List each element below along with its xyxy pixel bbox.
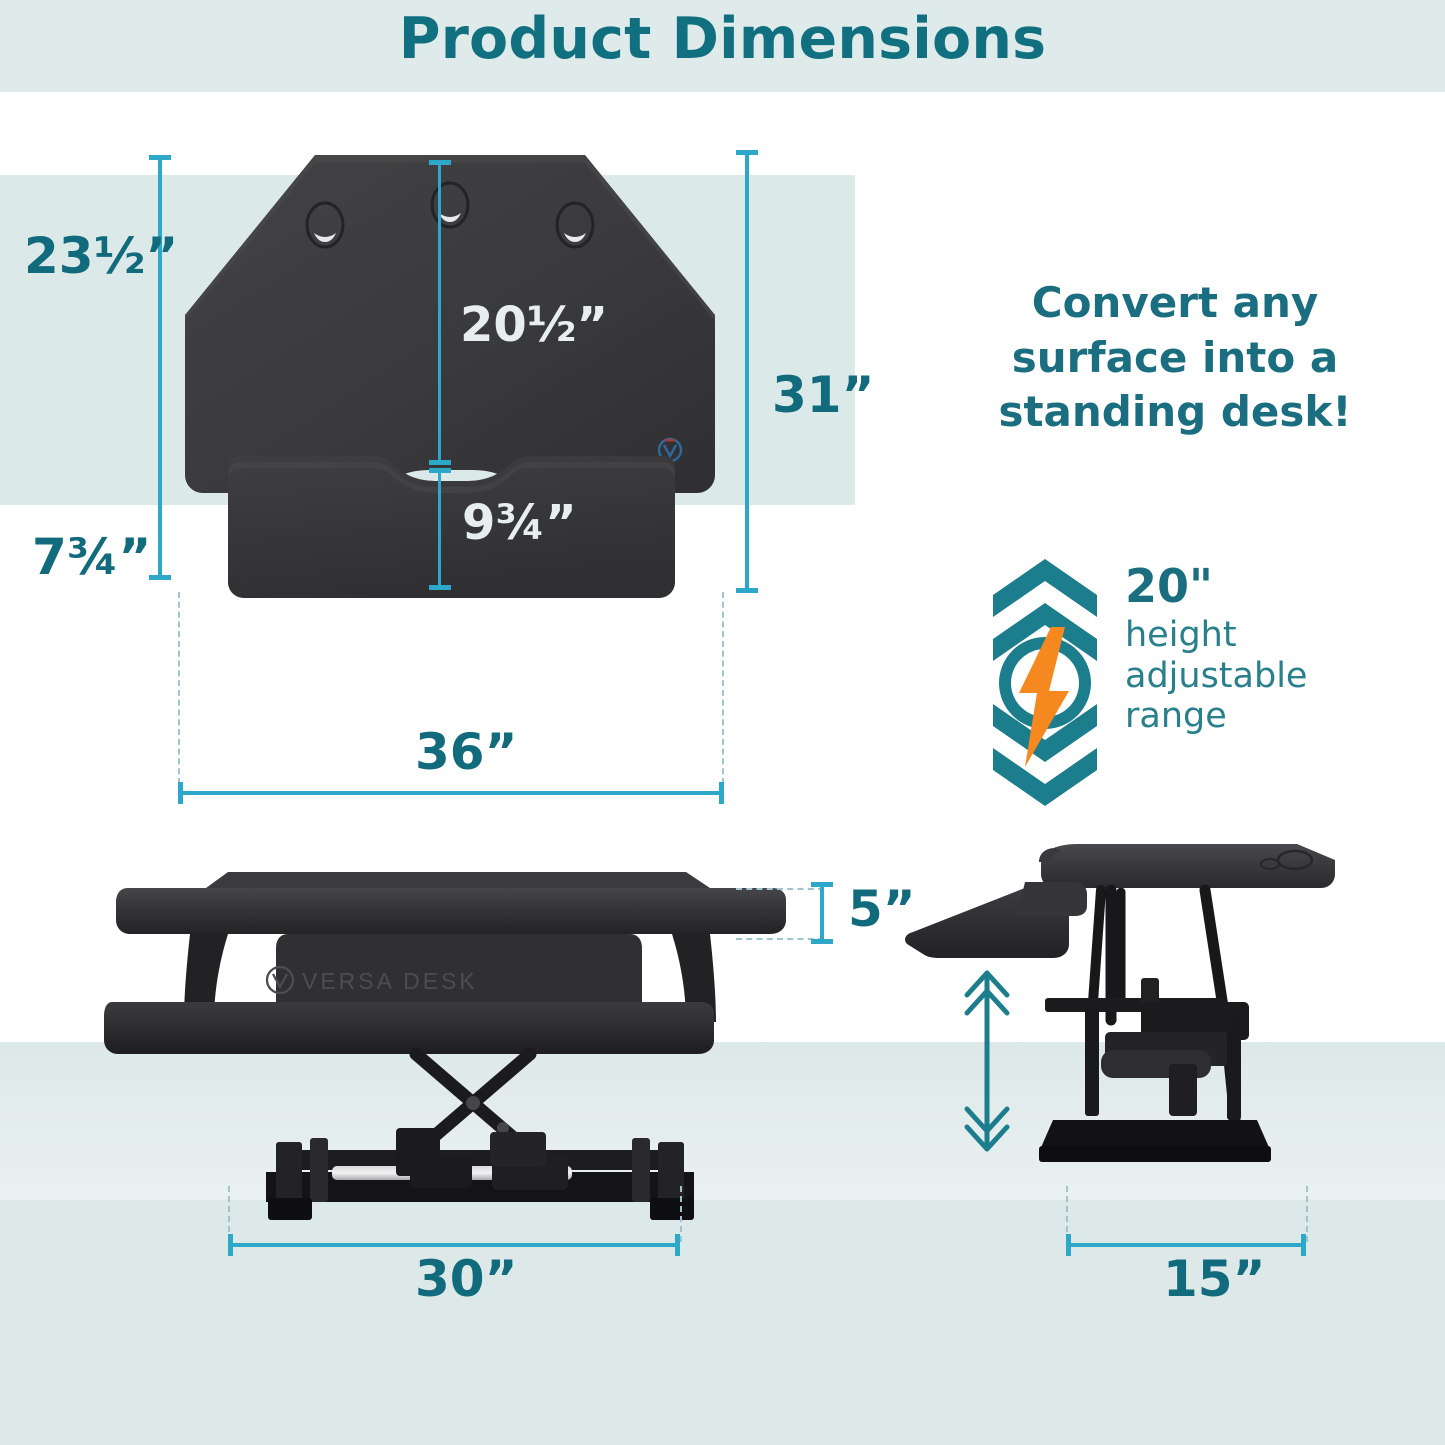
dim-label-31: 31” [772, 366, 874, 424]
width-extension-left [178, 592, 180, 784]
dim-label-30: 30” [415, 1250, 517, 1308]
base-width-extension-right [680, 1186, 682, 1242]
base-width-30-measure-line [228, 1243, 680, 1247]
feature-description: height adjustable range [1125, 615, 1415, 737]
base-depth-15-measure-line [1066, 1243, 1306, 1247]
base-depth-extension-right [1306, 1186, 1308, 1242]
tagline: Convert any surface into a standing desk… [955, 276, 1395, 440]
front-view-desk-riser-illustration: VERSA DESK [110, 850, 810, 1190]
desk-depth-20half-measure-line [438, 160, 441, 465]
bottom-background-band [0, 1200, 1445, 1445]
dim-label-15: 15” [1163, 1250, 1265, 1308]
collapsed-height-5-measure-line [820, 882, 824, 944]
depth-23half-measure-line [158, 155, 162, 580]
dim-label-23-half: 23½” [24, 227, 178, 285]
feature-value: 20" [1125, 563, 1415, 609]
brand-name-front-view: VERSA DESK [302, 968, 478, 994]
height-range-double-arrow [955, 965, 1019, 1157]
width-extension-right [722, 592, 724, 784]
page-title: Product Dimensions [0, 6, 1445, 72]
collapsed-height-extension-top [736, 888, 824, 890]
overall-depth-31-measure-line [745, 150, 749, 593]
infographic-canvas: Product Dimensions [0, 0, 1445, 1445]
dim-label-9-three-quarters: 9¾” [462, 495, 577, 551]
dim-label-7-three-quarters: 7¾” [32, 528, 151, 586]
height-adjust-bolt-icon [985, 555, 1105, 810]
width-36-measure-line [178, 791, 724, 795]
top-view-desktop-illustration [170, 145, 730, 615]
dim-label-20-half: 20½” [460, 297, 608, 353]
tray-depth-9three4-measure-line [438, 468, 441, 590]
dim-label-36: 36” [415, 723, 517, 781]
feature-text-block: 20" height adjustable range [1125, 563, 1415, 737]
